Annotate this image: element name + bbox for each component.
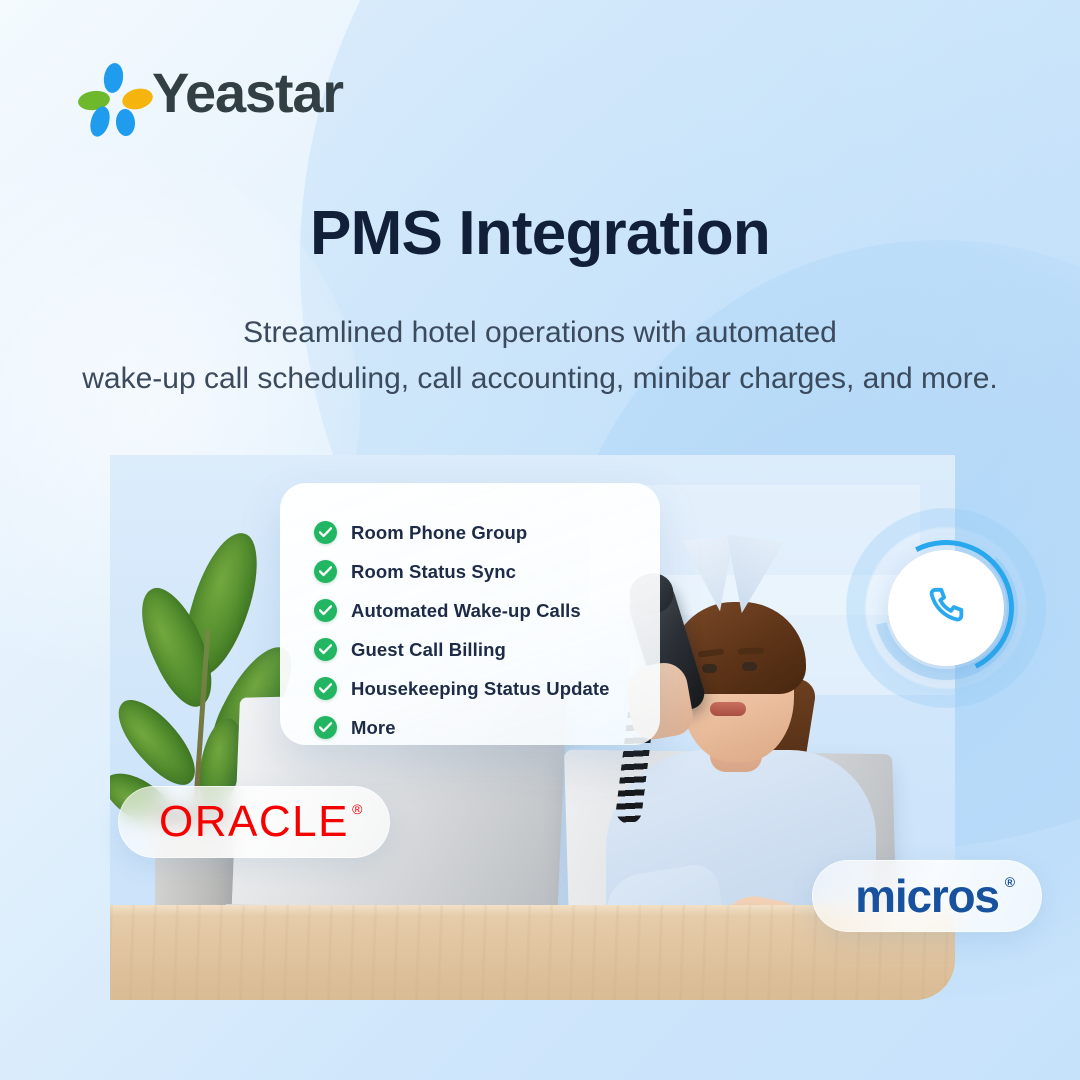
list-item-label: Room Status Sync bbox=[351, 561, 516, 583]
partner-logo-oracle[interactable]: ORACLE® bbox=[118, 786, 390, 858]
list-item: Room Phone Group bbox=[314, 517, 660, 548]
list-item-label: More bbox=[351, 717, 396, 739]
check-circle-icon bbox=[314, 521, 337, 544]
list-item-label: Housekeeping Status Update bbox=[351, 678, 610, 700]
brand-logo[interactable]: Yeastar bbox=[78, 62, 343, 124]
oracle-label: ORACLE bbox=[159, 797, 349, 846]
call-badge bbox=[838, 500, 1054, 716]
list-item-label: Room Phone Group bbox=[351, 522, 527, 544]
partner-logo-micros[interactable]: micros® bbox=[812, 860, 1042, 932]
feature-list-card: Room Phone Group Room Status Sync Automa… bbox=[280, 483, 660, 745]
check-circle-icon bbox=[314, 677, 337, 700]
list-item: Automated Wake-up Calls bbox=[314, 595, 660, 626]
micros-label: micros bbox=[855, 870, 999, 922]
list-item: More bbox=[314, 712, 660, 743]
micros-registered-icon: ® bbox=[1005, 875, 1014, 889]
subtitle-line-1: Streamlined hotel operations with automa… bbox=[0, 310, 1080, 356]
brand-name: Yeastar bbox=[152, 65, 343, 121]
eye-right bbox=[742, 662, 757, 671]
page-subtitle: Streamlined hotel operations with automa… bbox=[0, 310, 1080, 401]
list-item: Guest Call Billing bbox=[314, 634, 660, 665]
eye-left bbox=[702, 664, 717, 673]
list-item: Housekeeping Status Update bbox=[314, 673, 660, 704]
check-circle-icon bbox=[314, 560, 337, 583]
promo-graphic: Yeastar PMS Integration Streamlined hote… bbox=[0, 0, 1080, 1080]
check-circle-icon bbox=[314, 638, 337, 661]
check-circle-icon bbox=[314, 599, 337, 622]
list-item-label: Automated Wake-up Calls bbox=[351, 600, 581, 622]
subtitle-line-2: wake-up call scheduling, call accounting… bbox=[0, 356, 1080, 402]
page-title: PMS Integration bbox=[0, 198, 1080, 269]
micros-wordmark: micros® bbox=[855, 873, 999, 919]
list-item-label: Guest Call Billing bbox=[351, 639, 506, 661]
oracle-registered-icon: ® bbox=[352, 802, 364, 816]
check-circle-icon bbox=[314, 716, 337, 739]
yeastar-flower-logo-icon bbox=[78, 62, 140, 124]
lips bbox=[710, 702, 746, 716]
logo-petal-bottom-center bbox=[115, 108, 136, 136]
oracle-wordmark: ORACLE® bbox=[159, 800, 349, 844]
phone-handset-icon bbox=[888, 550, 1004, 666]
list-item: Room Status Sync bbox=[314, 556, 660, 587]
logo-petal-top bbox=[102, 62, 125, 94]
